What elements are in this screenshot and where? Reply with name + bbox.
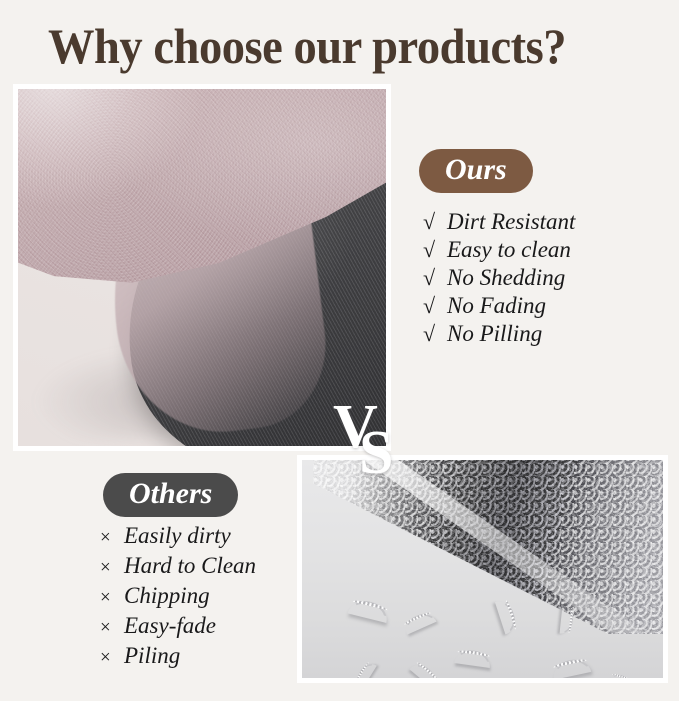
check-icon: √ — [423, 320, 447, 348]
product-photo-others-image — [302, 460, 663, 678]
feature-label: Piling — [124, 642, 180, 670]
check-icon: √ — [423, 292, 447, 320]
feature-label: No Fading — [447, 292, 546, 320]
shed-fiber — [495, 598, 519, 635]
badge-others: Others — [103, 473, 238, 517]
feature-item-others: × Easily dirty — [100, 522, 256, 552]
feature-item-others: × Easy-fade — [100, 612, 256, 642]
feature-item-ours: √ No Pilling — [423, 320, 575, 348]
infographic-root: Why choose our products? V S — [0, 0, 679, 701]
shed-fiber — [353, 660, 377, 678]
shed-fiber — [409, 659, 441, 678]
shed-fiber — [551, 656, 591, 678]
shed-fiber — [348, 597, 391, 623]
feature-item-ours: √ Dirt Resistant — [423, 208, 575, 236]
page-title: Why choose our products? — [48, 18, 606, 74]
shed-fiber — [454, 648, 492, 668]
feature-list-others: × Easily dirty × Hard to Clean × Chippin… — [100, 522, 256, 672]
feature-label: Easy-fade — [124, 612, 216, 640]
badge-ours: Ours — [419, 149, 533, 193]
feature-label: No Pilling — [447, 320, 542, 348]
feature-list-ours: √ Dirt Resistant √ Easy to clean √ No Sh… — [423, 208, 575, 348]
cross-icon: × — [100, 644, 124, 672]
product-photo-others — [297, 455, 668, 683]
shed-fiber — [560, 605, 575, 635]
feature-label: Easy to clean — [447, 236, 571, 264]
feature-item-others: × Chipping — [100, 582, 256, 612]
check-icon: √ — [423, 264, 447, 292]
feature-label: No Shedding — [447, 264, 565, 292]
product-photo-ours-image — [18, 89, 386, 446]
feature-item-ours: √ Easy to clean — [423, 236, 575, 264]
cross-icon: × — [100, 524, 124, 552]
cross-icon: × — [100, 554, 124, 582]
feature-label: Hard to Clean — [124, 552, 256, 580]
feature-label: Easily dirty — [124, 522, 231, 550]
feature-item-others: × Piling — [100, 642, 256, 672]
cross-icon: × — [100, 584, 124, 612]
feature-item-ours: √ No Shedding — [423, 264, 575, 292]
feature-item-others: × Hard to Clean — [100, 552, 256, 582]
check-icon: √ — [423, 236, 447, 264]
feature-label: Chipping — [124, 582, 210, 610]
feature-item-ours: √ No Fading — [423, 292, 575, 320]
feature-label: Dirt Resistant — [447, 208, 575, 236]
cross-icon: × — [100, 614, 124, 642]
product-photo-ours — [13, 84, 391, 451]
check-icon: √ — [423, 208, 447, 236]
shed-fiber — [609, 672, 634, 678]
shed-fiber — [401, 609, 436, 635]
